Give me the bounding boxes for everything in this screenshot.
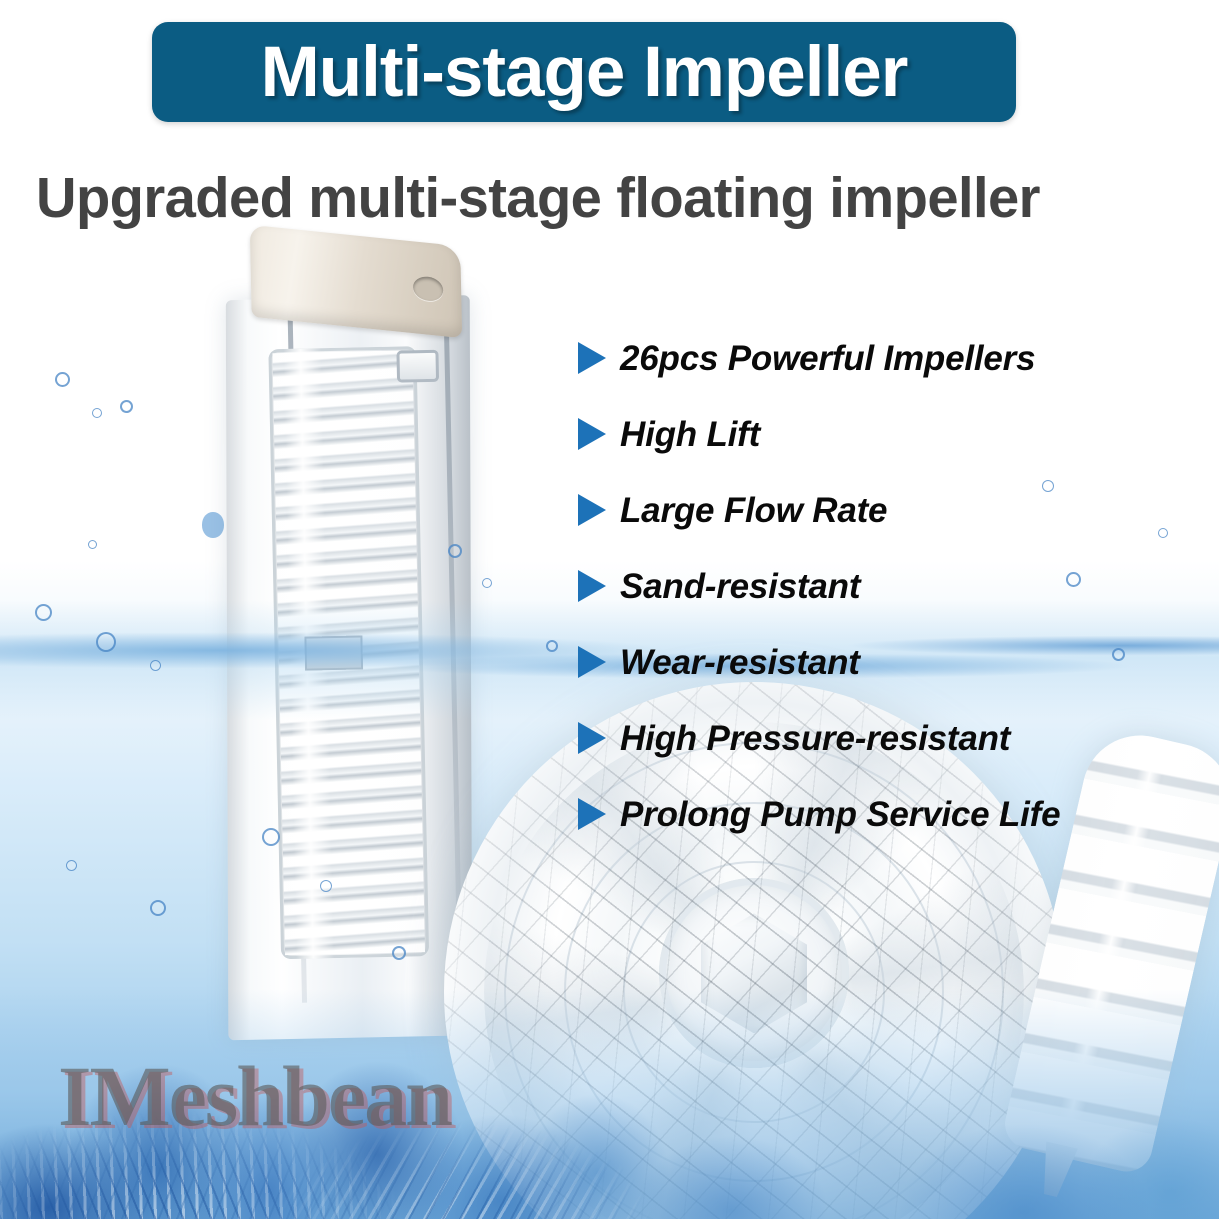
pump-body-image [200,233,477,1038]
bubble [150,660,161,671]
bubble [92,408,102,418]
product-infographic: IMeshbean Multi-stage Impeller Upgraded … [0,0,1219,1219]
feature-label: High Pressure-resistant [620,721,1010,756]
bubble [262,828,280,846]
pump-shaft-nut [304,635,363,670]
feature-list: 26pcs Powerful Impellers High Lift Large… [578,320,1178,852]
bubble [96,632,116,652]
bubble [150,900,166,916]
bubble [448,544,462,558]
pump-cap-hole [413,275,444,302]
bubble [482,578,492,588]
bubble [392,946,406,960]
triangle-bullet-icon [578,342,606,374]
triangle-bullet-icon [578,494,606,526]
bubble [88,540,97,549]
bubble [55,372,70,387]
feature-label: 26pcs Powerful Impellers [620,341,1035,376]
triangle-bullet-icon [578,646,606,678]
bubble [320,880,332,892]
triangle-bullet-icon [578,418,606,450]
bubble [35,604,52,621]
feature-label: Wear-resistant [620,645,860,680]
water-droplet [202,512,224,538]
triangle-bullet-icon [578,798,606,830]
feature-label: Large Flow Rate [620,493,887,528]
bubble [546,640,558,652]
feature-item-pressure-resistant: High Pressure-resistant [578,700,1178,776]
pump-clip [396,350,439,383]
feature-label: Sand-resistant [620,569,860,604]
watermark-brand: IMeshbean [58,1046,451,1146]
subtitle-headline: Upgraded multi-stage floating impeller [36,170,1179,227]
feature-item-service-life: Prolong Pump Service Life [578,776,1178,852]
feature-item-wear-resistant: Wear-resistant [578,624,1178,700]
feature-item-high-lift: High Lift [578,396,1178,472]
bubble [66,860,77,871]
page-title: Multi-stage Impeller [261,37,908,108]
bubble [120,400,133,413]
header-banner: Multi-stage Impeller [152,22,1016,122]
feature-label: Prolong Pump Service Life [620,797,1060,832]
triangle-bullet-icon [578,722,606,754]
feature-item-sand-resistant: Sand-resistant [578,548,1178,624]
triangle-bullet-icon [578,570,606,602]
feature-label: High Lift [620,417,760,452]
feature-item-flow-rate: Large Flow Rate [578,472,1178,548]
feature-item-impellers: 26pcs Powerful Impellers [578,320,1178,396]
